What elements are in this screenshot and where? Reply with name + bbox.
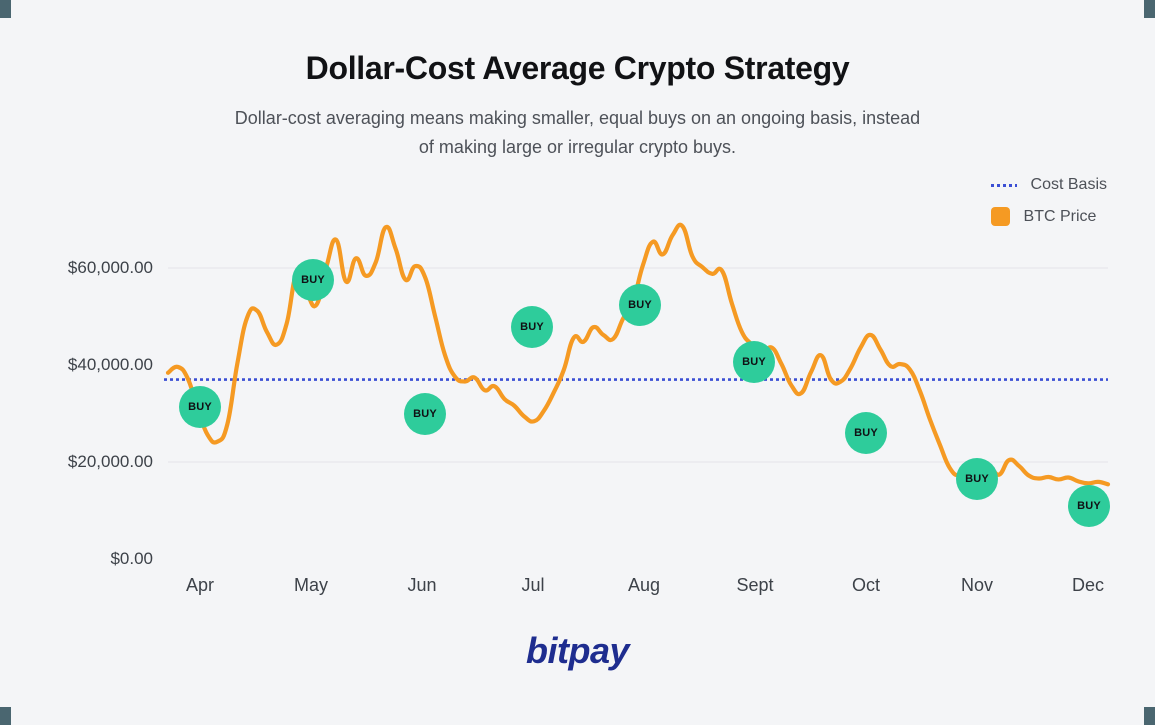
y-axis-tick-label: $0.00 (110, 549, 153, 569)
buy-marker-label: BUY (413, 408, 437, 420)
y-axis-tick-label: $40,000.00 (68, 355, 153, 375)
buy-marker[interactable]: BUY (1068, 485, 1110, 527)
x-axis-tick-label: Aug (628, 575, 660, 596)
x-axis-tick-label: Apr (186, 575, 214, 596)
buy-marker[interactable]: BUY (956, 458, 998, 500)
chart-canvas: Dollar-Cost Average Crypto Strategy Doll… (0, 0, 1155, 725)
buy-marker-label: BUY (854, 427, 878, 439)
y-axis-tick-label: $60,000.00 (68, 258, 153, 278)
buy-marker-label: BUY (1077, 500, 1101, 512)
buy-marker-label: BUY (520, 321, 544, 333)
buy-marker[interactable]: BUY (845, 412, 887, 454)
buy-marker-label: BUY (965, 473, 989, 485)
buy-marker-label: BUY (742, 356, 766, 368)
x-axis-tick-label: Oct (852, 575, 880, 596)
buy-marker[interactable]: BUY (511, 306, 553, 348)
x-axis-tick-label: May (294, 575, 328, 596)
bitpay-logo: bitpay (526, 630, 629, 672)
price-series-svg (0, 0, 1155, 725)
buy-marker[interactable]: BUY (733, 341, 775, 383)
buy-marker[interactable]: BUY (292, 259, 334, 301)
buy-marker-label: BUY (628, 299, 652, 311)
buy-marker[interactable]: BUY (179, 386, 221, 428)
x-axis-tick-label: Jun (407, 575, 436, 596)
buy-marker[interactable]: BUY (404, 393, 446, 435)
buy-marker-label: BUY (301, 274, 325, 286)
buy-marker-label: BUY (188, 401, 212, 413)
plot-area: $60,000.00$40,000.00$20,000.00$0.00 AprM… (0, 0, 1155, 725)
y-axis-tick-label: $20,000.00 (68, 452, 153, 472)
x-axis-tick-label: Nov (961, 575, 993, 596)
x-axis-tick-label: Jul (521, 575, 544, 596)
buy-marker[interactable]: BUY (619, 284, 661, 326)
x-axis-tick-label: Sept (736, 575, 773, 596)
x-axis-tick-label: Dec (1072, 575, 1104, 596)
